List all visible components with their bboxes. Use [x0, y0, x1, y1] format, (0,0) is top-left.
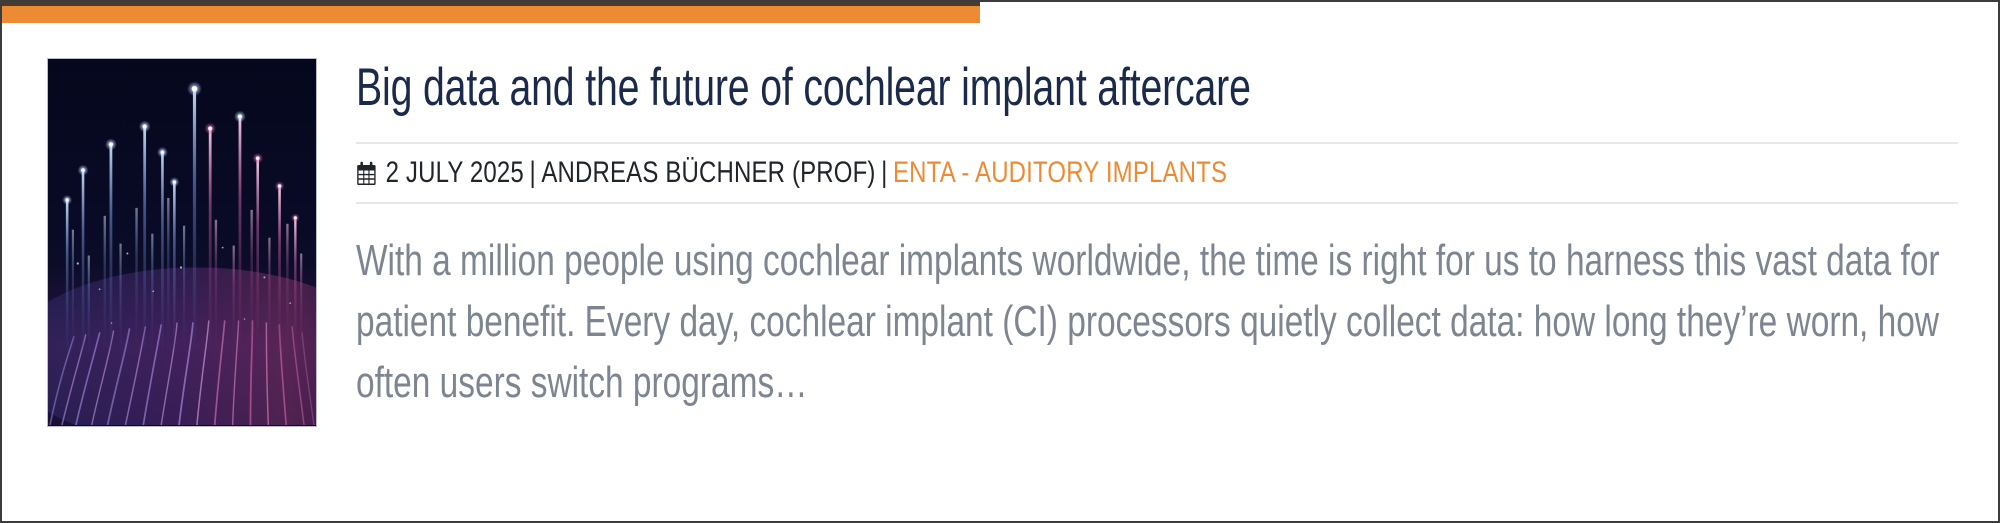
meta-separator-1: | — [524, 158, 541, 188]
article-excerpt: With a million people using cochlear imp… — [356, 230, 1998, 413]
article-text-column: Big data and the future of cochlear impl… — [317, 58, 1958, 413]
article-thumbnail[interactable] — [47, 58, 317, 427]
article-body: Big data and the future of cochlear impl… — [2, 23, 1998, 521]
article-category-link[interactable]: ENTA - AUDITORY IMPLANTS — [893, 158, 1227, 188]
orange-accent-bar — [2, 2, 980, 23]
meta-separator-2: | — [876, 158, 893, 188]
article-meta-inner: 2 JULY 2025 | ANDREAS BÜCHNER (PROF) | E… — [356, 158, 1227, 188]
article-card: Big data and the future of cochlear impl… — [0, 0, 2000, 523]
calendar-icon — [356, 161, 377, 187]
article-author: ANDREAS BÜCHNER (PROF) — [541, 158, 875, 188]
article-date: 2 JULY 2025 — [386, 158, 524, 188]
big-data-abstract-image — [48, 59, 316, 425]
article-meta: 2 JULY 2025 | ANDREAS BÜCHNER (PROF) | E… — [356, 142, 1958, 204]
article-meta-line: 2 JULY 2025 | ANDREAS BÜCHNER (PROF) | E… — [356, 158, 1958, 188]
article-title[interactable]: Big data and the future of cochlear impl… — [356, 60, 1541, 116]
accent-bar-top-shadow — [2, 2, 980, 6]
